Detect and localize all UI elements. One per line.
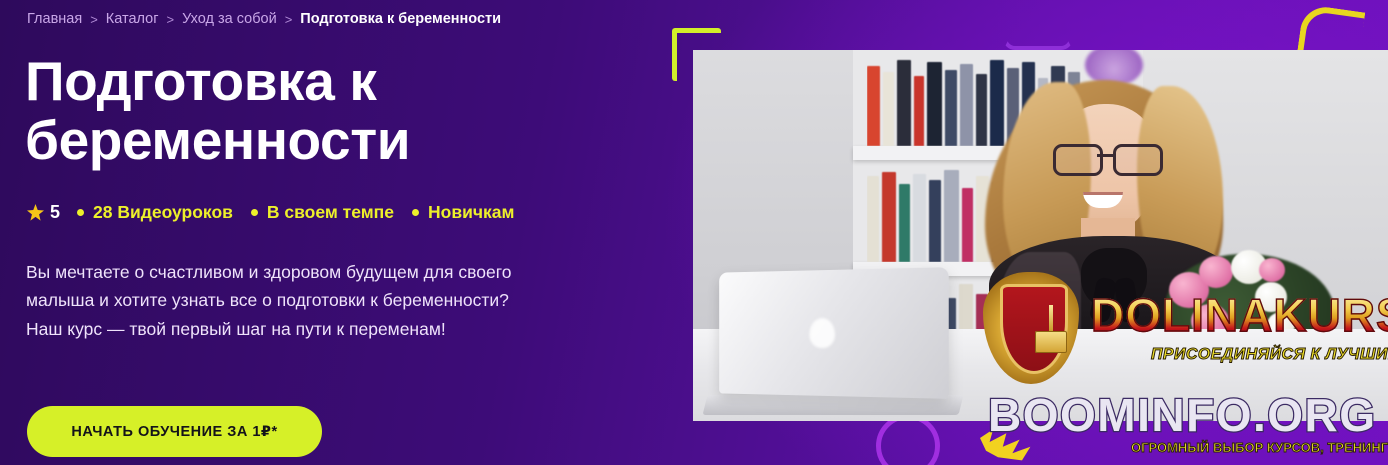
triangle-outline-decoration (1003, 0, 1073, 50)
shield-emblem-icon (983, 272, 1079, 384)
start-course-button[interactable]: НАЧАТЬ ОБУЧЕНИЕ ЗА 1₽* (27, 406, 322, 457)
laptop (705, 270, 963, 415)
rating-value: 5 (50, 202, 60, 223)
meta-item-level: Новичкам (412, 202, 514, 223)
breadcrumb-item-catalog[interactable]: Каталог (106, 11, 159, 27)
meta-item-lessons: 28 Видеоуроков (77, 202, 233, 223)
watermark-dolinakursov: DOLINAKURSOV ПРИСОЕДИНЯЙСЯ К ЛУЧШИМ! (983, 272, 1383, 364)
breadcrumb-separator: > (167, 12, 175, 27)
bullet-icon (412, 209, 419, 216)
meta-item-pace: В своем темпе (251, 202, 394, 223)
bullet-icon (77, 209, 84, 216)
glasses-lens-right (1113, 144, 1163, 176)
breadcrumb-separator: > (90, 12, 98, 27)
watermark-tagline: ПРИСОЕДИНЯЙСЯ К ЛУЧШИМ! (1151, 346, 1388, 364)
watermark-boominfo: BOOMINFO.ORG ОГРОМНЫЙ ВЫБОР КУРСОВ, ТРЕН… (988, 388, 1388, 462)
breadcrumb-separator: > (285, 12, 293, 27)
laptop-lid (719, 267, 949, 399)
page-title: Подготовка к беременности (25, 52, 565, 170)
course-meta-row: 5 28 Видеоуроков В своем темпе Новичкам (27, 202, 514, 223)
course-description: Вы мечтаете о счастливом и здоровом буду… (26, 258, 546, 343)
rating: 5 (27, 202, 60, 223)
meta-item-label: 28 Видеоуроков (93, 202, 233, 223)
breadcrumb-item-selfcare[interactable]: Уход за собой (182, 11, 277, 27)
apple-logo-icon (809, 318, 835, 348)
watermark-brand: DOLINAKURSOV (1091, 288, 1388, 342)
breadcrumb: Главная > Каталог > Уход за собой > Подг… (27, 11, 501, 27)
pen-icon (1049, 305, 1053, 331)
star-icon (27, 204, 44, 221)
book-icon (1035, 331, 1067, 353)
course-hero-banner: Главная > Каталог > Уход за собой > Подг… (0, 0, 1388, 465)
meta-item-label: В своем темпе (267, 202, 394, 223)
circle-outline-decoration (876, 414, 940, 465)
bullet-icon (251, 209, 258, 216)
hero-content-column: Главная > Каталог > Уход за собой > Подг… (0, 0, 660, 465)
breadcrumb-item-home[interactable]: Главная (27, 11, 82, 27)
meta-item-label: Новичкам (428, 202, 514, 223)
glasses-lens-left (1053, 144, 1103, 176)
watermark-brand: BOOMINFO.ORG (988, 388, 1377, 442)
breadcrumb-item-current: Подготовка к беременности (300, 11, 501, 27)
watermark-tagline: ОГРОМНЫЙ ВЫБОР КУРСОВ, ТРЕНИНГОВ, КНИГ (1131, 440, 1388, 455)
glasses-bridge (1097, 154, 1113, 157)
glasses-icon (1053, 144, 1163, 170)
